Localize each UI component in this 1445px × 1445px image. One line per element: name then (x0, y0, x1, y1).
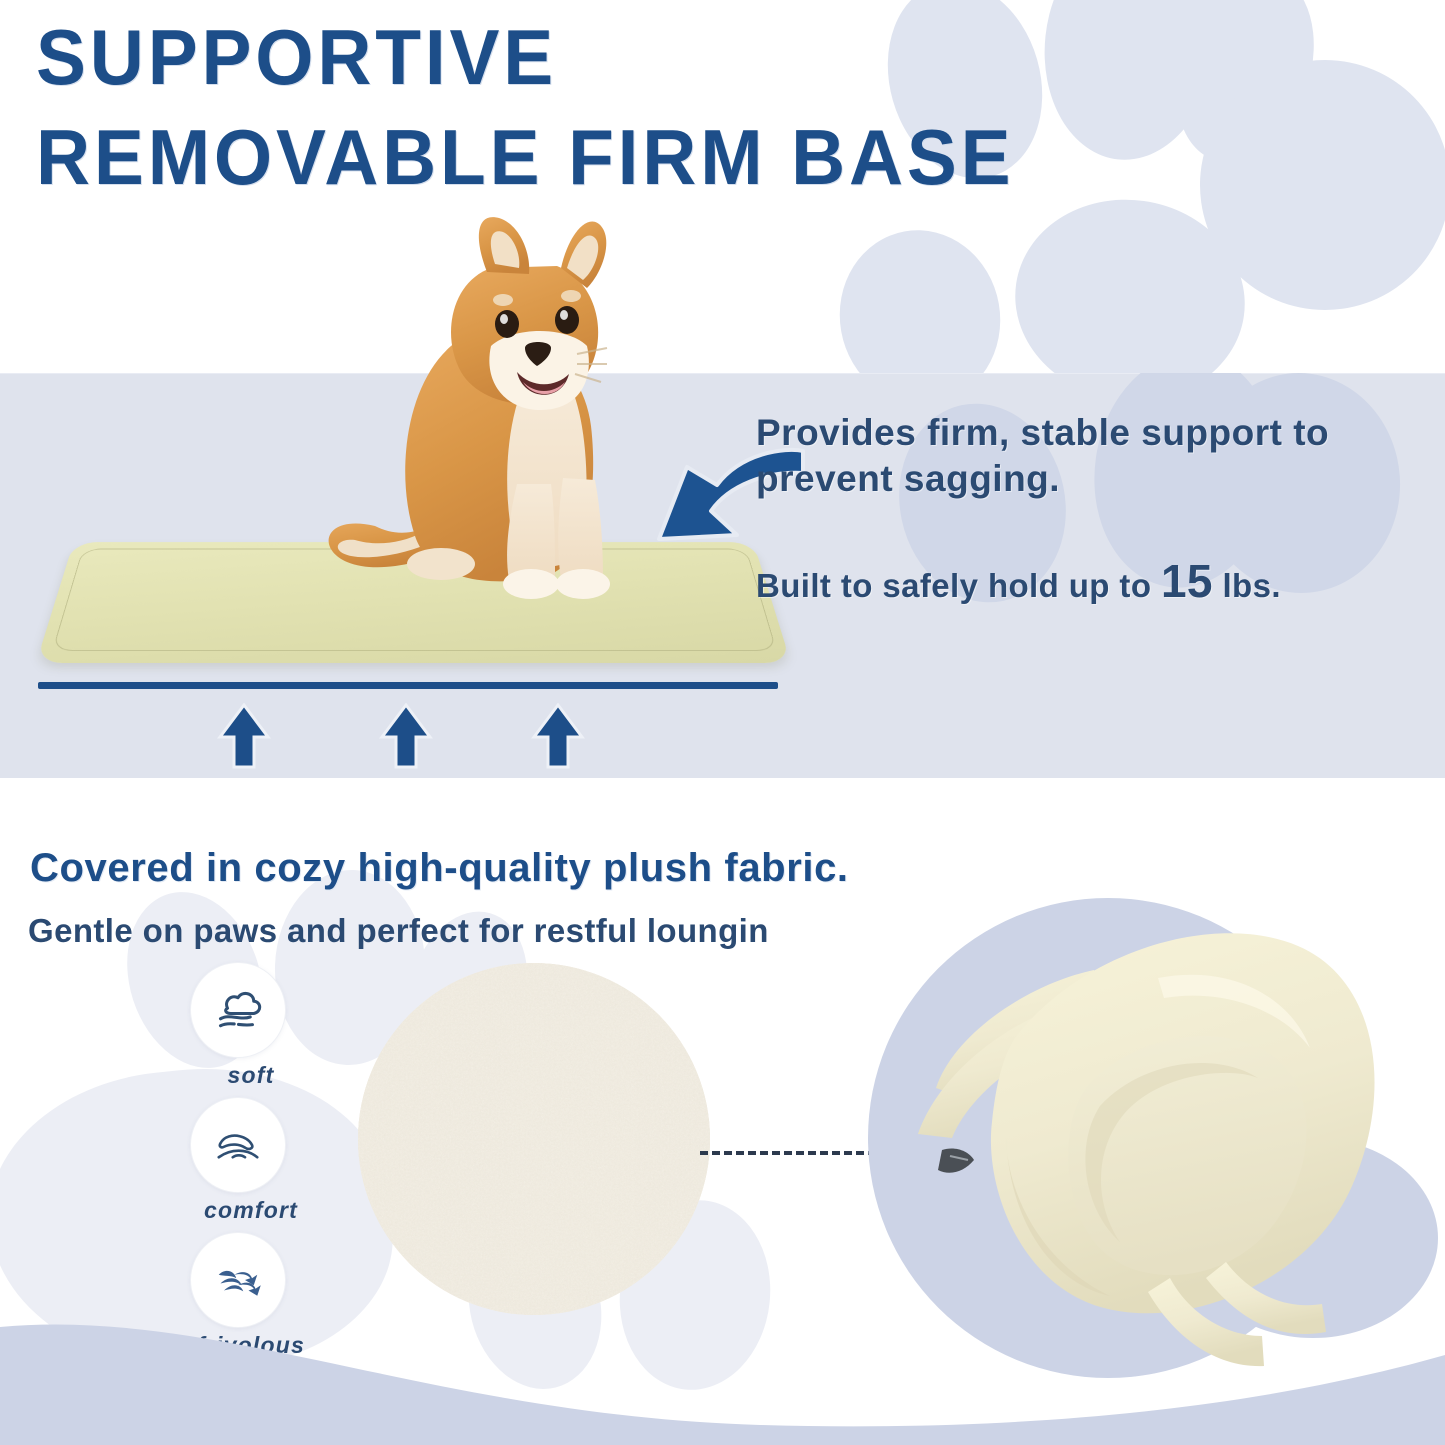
plush-subheading: Gentle on paws and perfect for restful l… (28, 912, 769, 950)
cloud-icon (190, 962, 286, 1058)
feature-label: comfort (176, 1197, 326, 1224)
hand-icon (190, 1097, 286, 1193)
feature-item-comfort[interactable]: comfort (176, 1097, 356, 1232)
callout-weight-prefix: Built to safely hold up to (756, 567, 1161, 604)
plush-fabric-swatch (358, 963, 710, 1315)
up-arrow-icon (378, 703, 434, 769)
headline-line-1: SUPPORTIVE (36, 13, 557, 101)
up-arrow-icon (216, 703, 272, 769)
callout-weight-number: 15 (1161, 555, 1213, 607)
bottom-wave-decoration (0, 1285, 1445, 1445)
headline-line-2: REMOVABLE FIRM BASE (36, 118, 1322, 196)
feature-label: soft (176, 1062, 326, 1089)
page-title: SUPPORTIVE REMOVABLE FIRM BASE (36, 18, 1322, 196)
infographic-canvas: SUPPORTIVE REMOVABLE FIRM BASE (0, 0, 1445, 1445)
callout-weight-suffix: lbs. (1213, 567, 1281, 604)
support-baseline (38, 682, 778, 689)
band-callouts: Provides firm, stable support to prevent… (756, 410, 1416, 609)
up-arrow-icon (530, 703, 586, 769)
feature-item-soft[interactable]: soft (176, 962, 356, 1097)
callout-weight-text: Built to safely hold up to 15 lbs. (756, 554, 1416, 609)
plush-heading: Covered in cozy high-quality plush fabri… (30, 846, 849, 891)
callout-support-text: Provides firm, stable support to prevent… (756, 410, 1416, 502)
